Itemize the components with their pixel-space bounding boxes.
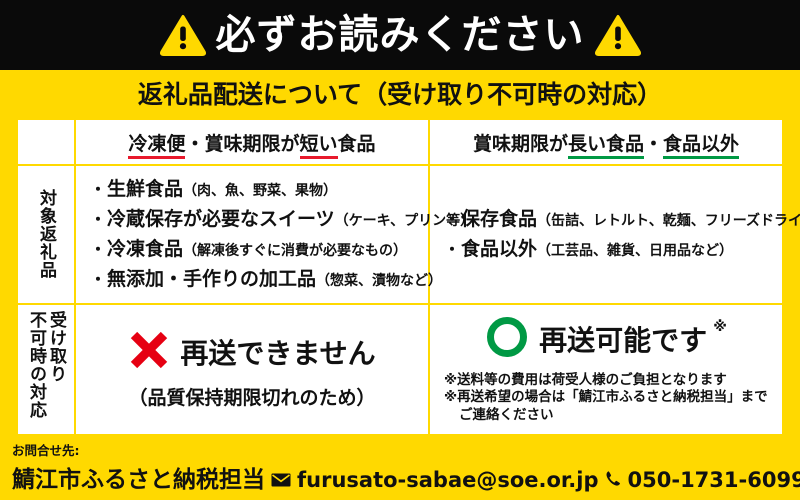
column-header-mid-1: ・賞味期限が (185, 133, 299, 155)
list-item: ・無添加・手作りの加工品（惣菜、漬物など） (90, 268, 418, 291)
row-header-label-part1: 受け取り (46, 311, 66, 383)
response-right-notes: ※送料等の費用は荷受人様のご負担となります ※再送希望の場合は「鯖江市ふるさと納… (438, 372, 774, 424)
response-right-asterisk: ※ (713, 319, 727, 335)
column-header-suffix-1: 食品 (338, 133, 376, 155)
column-header-mid-2: ・ (644, 133, 663, 155)
column-header-short-shelf-life: 冷凍便・賞味期限が短い食品 (75, 119, 429, 165)
table-header-row: 冷凍便・賞味期限が短い食品 賞味期限が長い食品・食品以外 (17, 119, 783, 165)
phone-icon (605, 470, 622, 491)
column-header-accent-4: 食品以外 (663, 133, 739, 159)
column-header-long-shelf-life: 賞味期限が長い食品・食品以外 (429, 119, 783, 165)
bullet-list-right: ・保存食品（缶詰、レトルト、乾麺、フリーズドライ） ・食品以外（工芸品、雑貨、日… (444, 208, 772, 261)
column-header-accent-3: 長い食品 (568, 133, 644, 159)
cell-target-items-right: ・保存食品（缶詰、レトルト、乾麺、フリーズドライ） ・食品以外（工芸品、雑貨、日… (429, 165, 783, 304)
table-corner-cell (17, 119, 75, 165)
row-header-label-part2: 不可時の対応 (26, 311, 46, 419)
subtitle-text: 返礼品配送について（受け取り不可時の対応） (138, 75, 662, 111)
bullet-dot-icon: ・ (90, 240, 106, 259)
response-left-text: 再送できません (180, 332, 375, 372)
column-header-prefix-2: 賞味期限が (473, 133, 568, 155)
footer-organization: 鯖江市ふるさと納税担当 (12, 460, 265, 494)
note-line: ご連絡ください (444, 407, 774, 424)
response-left-subtext: （品質保持期限切れのため） (84, 383, 420, 410)
envelope-icon (271, 472, 291, 491)
table-row: 受け取り 不可時の対応 再送できません (17, 304, 783, 435)
response-right-text: 再送可能です (539, 319, 707, 359)
footer-label: お問合せ先: (12, 443, 790, 458)
row-header-undeliverable-response: 受け取り 不可時の対応 (17, 304, 75, 435)
circle-mark-icon (485, 315, 529, 363)
bullet-dot-icon: ・ (444, 240, 460, 259)
table-row: 対象返礼品 ・生鮮食品（肉、魚、野菜、果物） ・冷蔵保存が必要なスイーツ（ケーキ… (17, 165, 783, 304)
list-item: ・保存食品（缶詰、レトルト、乾麺、フリーズドライ） (444, 208, 772, 231)
note-line: ※再送希望の場合は「鯖江市ふるさと納税担当」まで (444, 389, 774, 406)
footer-email[interactable]: furusato-sabae@soe.or.jp (297, 468, 599, 492)
cell-response-right: 再送可能です ※ ※送料等の費用は荷受人様のご負担となります ※再送希望の場合は… (429, 304, 783, 435)
note-line: ※送料等の費用は荷受人様のご負担となります (444, 372, 774, 389)
bullet-dot-icon: ・ (90, 180, 106, 199)
row-header-label: 対象返礼品 (36, 189, 56, 279)
column-header-accent-2: 短い (300, 133, 338, 159)
header-bar: 必ずお読みください (0, 0, 800, 70)
subtitle-band: 返礼品配送について（受け取り不可時の対応） (0, 70, 800, 115)
poster-root: 必ずお読みください 返礼品配送について（受け取り不可時の対応） 冷凍便・賞味期限… (0, 0, 800, 500)
warning-triangle-icon (160, 14, 206, 56)
warning-triangle-icon (595, 14, 641, 56)
row-header-target-items: 対象返礼品 (17, 165, 75, 304)
comparison-table: 冷凍便・賞味期限が短い食品 賞味期限が長い食品・食品以外 対象返礼品 (16, 118, 784, 436)
cell-target-items-left: ・生鮮食品（肉、魚、野菜、果物） ・冷蔵保存が必要なスイーツ（ケーキ、プリン等）… (75, 165, 429, 304)
page-title: 必ずお読みください (216, 15, 585, 55)
list-item: ・食品以外（工芸品、雑貨、日用品など） (444, 238, 772, 261)
bullet-dot-icon: ・ (444, 210, 460, 229)
list-item: ・冷凍食品（解凍後すぐに消費が必要なもの） (90, 238, 418, 261)
cross-mark-icon (128, 329, 170, 375)
footer-contact: お問合せ先: 鯖江市ふるさと納税担当 furusato-sabae@soe.or… (0, 440, 800, 500)
bullet-dot-icon: ・ (90, 210, 106, 229)
list-item: ・生鮮食品（肉、魚、野菜、果物） (90, 178, 418, 201)
bullet-dot-icon: ・ (90, 270, 106, 289)
footer-phone[interactable]: 050-1731-6099 (628, 468, 800, 492)
column-header-accent-1: 冷凍便 (128, 133, 185, 159)
bullet-list-left: ・生鮮食品（肉、魚、野菜、果物） ・冷蔵保存が必要なスイーツ（ケーキ、プリン等）… (90, 178, 418, 290)
list-item: ・冷蔵保存が必要なスイーツ（ケーキ、プリン等） (90, 208, 418, 231)
cell-response-left: 再送できません （品質保持期限切れのため） (75, 304, 429, 435)
